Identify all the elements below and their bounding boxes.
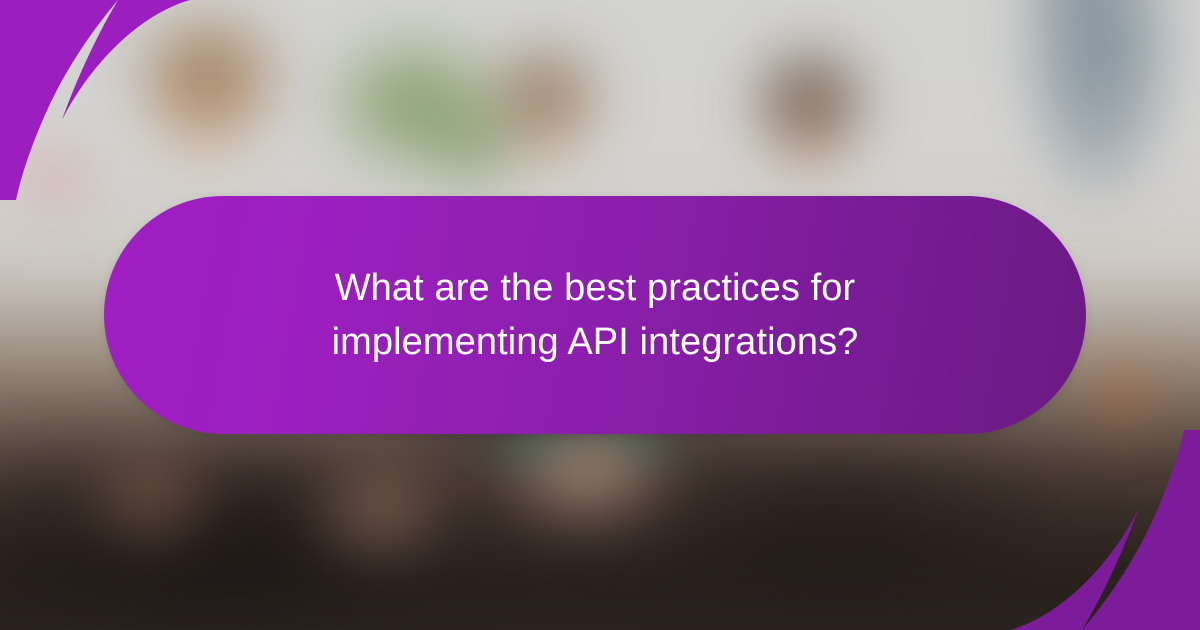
question-card: What are the best practices for implemen…	[104, 196, 1086, 434]
question-text: What are the best practices for implemen…	[235, 261, 955, 369]
banner-root: What are the best practices for implemen…	[0, 0, 1200, 630]
